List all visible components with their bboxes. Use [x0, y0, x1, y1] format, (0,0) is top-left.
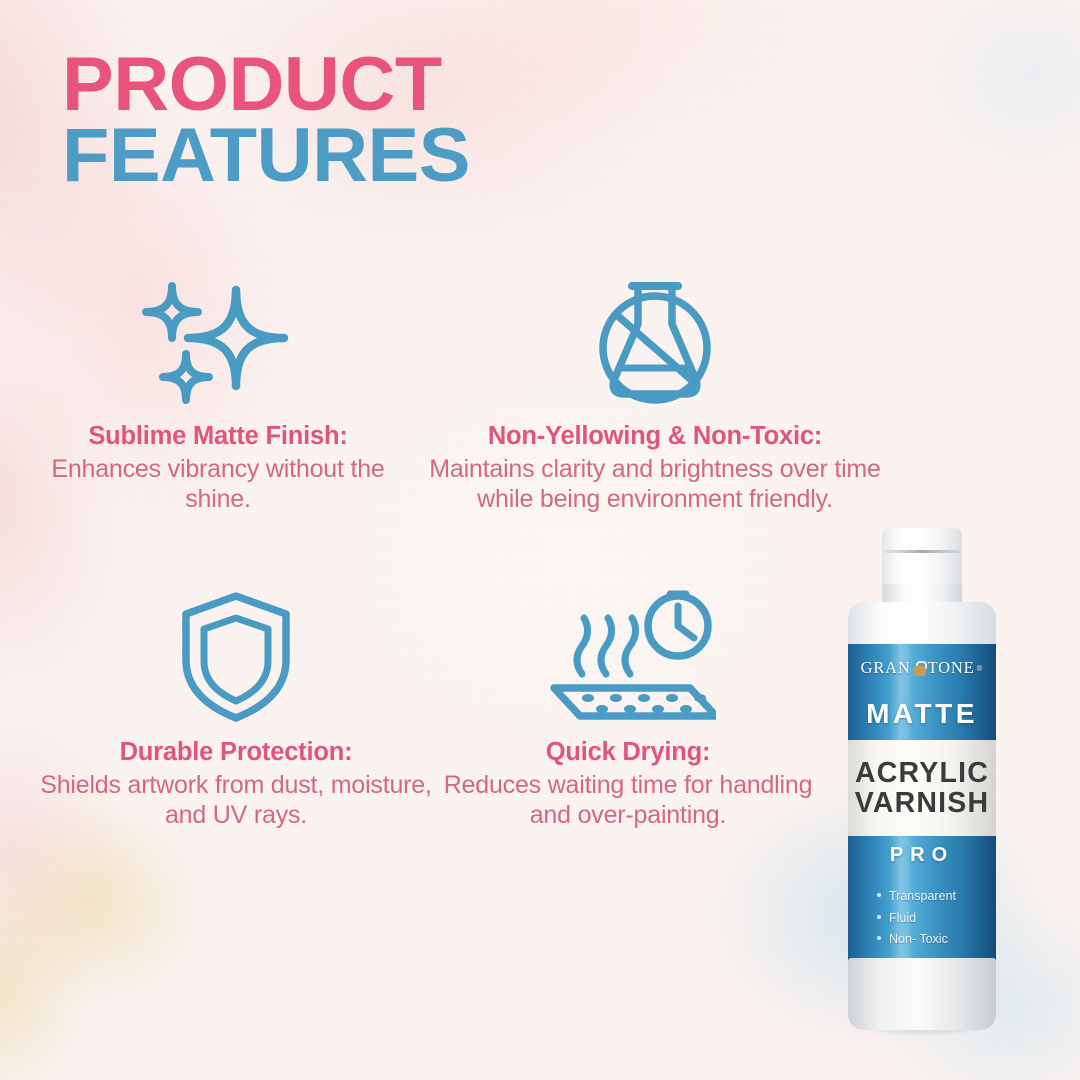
- page-title-line-2: FEATURES: [62, 123, 470, 190]
- feature-title: Quick Drying:: [428, 738, 828, 768]
- bottle-base: [848, 958, 996, 1030]
- registered-trademark-symbol: ®: [976, 664, 983, 673]
- watercolor-wash-blue-top-right: [880, 0, 1080, 210]
- feature-description: Maintains clarity and brightness over ti…: [420, 454, 890, 514]
- brand-logo: GRAN TONE ®: [848, 658, 996, 678]
- page-title: PRODUCT FEATURES: [62, 52, 462, 190]
- feature-card-sublime-matte-finish: Sublime Matte Finish: Enhances vibrancy …: [22, 272, 414, 514]
- product-features-infographic: PRODUCT FEATURES Sublime Matte Finish: E…: [0, 0, 1080, 1080]
- bottle-label: GRAN TONE ® MATTE ACRYLIC VARNISH PRO Tr…: [848, 644, 996, 962]
- list-item: Non- Toxic: [876, 929, 986, 951]
- feature-description: Shields artwork from dust, moisture, and…: [40, 770, 432, 830]
- feature-title: Durable Protection:: [40, 738, 432, 768]
- bottle-cap-top: [882, 528, 962, 586]
- feature-card-durable-protection: Durable Protection: Shields artwork from…: [40, 588, 432, 830]
- product-bottle-image: GRAN TONE ® MATTE ACRYLIC VARNISH PRO Tr…: [848, 528, 996, 1030]
- quick-drying-clock-icon: [428, 588, 828, 724]
- feature-description: Reduces waiting time for handling and ov…: [428, 770, 828, 830]
- product-finish-label: MATTE: [848, 698, 996, 730]
- product-grade-label: PRO: [848, 844, 996, 867]
- shield-icon: [40, 588, 432, 724]
- feature-card-quick-drying: Quick Drying: Reduces waiting time for h…: [428, 588, 828, 830]
- feature-description: Enhances vibrancy without the shine.: [22, 454, 414, 514]
- list-item: Fluid: [876, 908, 986, 930]
- bottle-cap-seam: [884, 550, 960, 553]
- brand-name-part-2: TONE: [928, 658, 975, 678]
- feature-title: Sublime Matte Finish:: [22, 422, 414, 452]
- feature-title: Non-Yellowing & Non-Toxic:: [420, 422, 890, 452]
- no-toxic-flask-icon: [420, 272, 890, 408]
- product-feature-bullets: Transparent Fluid Non- Toxic: [876, 886, 986, 951]
- product-type-band: ACRYLIC VARNISH: [848, 740, 996, 836]
- brand-bottle-glyph-icon: [913, 661, 926, 676]
- product-type-line-2: VARNISH: [855, 788, 990, 818]
- feature-card-non-yellowing-non-toxic: Non-Yellowing & Non-Toxic: Maintains cla…: [420, 272, 890, 514]
- sparkle-icon: [22, 272, 414, 408]
- list-item: Transparent: [876, 886, 986, 908]
- bottle-shoulder: [848, 602, 996, 648]
- page-title-line-1: PRODUCT: [62, 52, 470, 119]
- product-type-line-1: ACRYLIC: [855, 758, 989, 788]
- brand-name-part-1: GRAN: [861, 658, 911, 678]
